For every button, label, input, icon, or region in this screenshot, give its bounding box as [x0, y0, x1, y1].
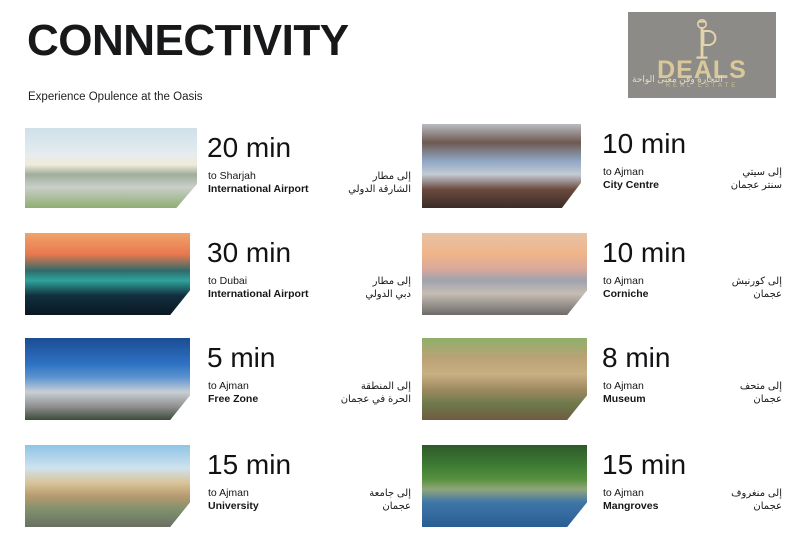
destination-ar: إلى المنطقة الحرة في عجمان: [341, 380, 411, 406]
destination-en: to Dubai International Airport: [208, 275, 309, 301]
item-info: 15 min to Ajman University إلى جامعة عجم…: [207, 445, 417, 541]
thumbnail-sharjah-international-airport: [25, 128, 197, 208]
destination-ar: إلى كورنيش عجمان: [732, 275, 782, 301]
connectivity-item: 15 min to Ajman University إلى جامعة عجم…: [25, 445, 417, 541]
connectivity-item: 15 min to Ajman Mangroves إلى منغروف عجم…: [422, 445, 804, 541]
duration-value: 8 min: [602, 342, 670, 374]
destination-en: to Sharjah International Airport: [208, 170, 309, 196]
connectivity-item: 5 min to Ajman Free Zone إلى المنطقة الح…: [25, 338, 417, 434]
connectivity-item: 20 min to Sharjah International Airport …: [25, 128, 417, 224]
duration-value: 10 min: [602, 237, 686, 269]
duration-value: 5 min: [207, 342, 275, 374]
item-info: 30 min to Dubai International Airport إل…: [207, 233, 417, 329]
thumbnail-ajman-mangroves: [422, 445, 587, 527]
thumbnail-ajman-university: [25, 445, 190, 527]
thumbnail-ajman-museum: [422, 338, 587, 420]
thumbnail-ajman-free-zone: [25, 338, 190, 420]
thumbnail-ajman-city-centre: [422, 124, 581, 208]
connectivity-item: 10 min to Ajman Corniche إلى كورنيش عجما…: [422, 233, 804, 329]
connectivity-item: 8 min to Ajman Museum إلى متحف عجمان: [422, 338, 804, 434]
item-info: 15 min to Ajman Mangroves إلى منغروف عجم…: [602, 445, 804, 541]
destination-ar: إلى متحف عجمان: [740, 380, 782, 406]
destination-en: to Ajman Corniche: [603, 275, 649, 301]
item-info: 8 min to Ajman Museum إلى متحف عجمان: [602, 338, 804, 434]
thumbnail-dubai-international-airport: [25, 233, 190, 315]
destination-ar: إلى مطار دبي الدولي: [365, 275, 411, 301]
destination-ar: إلى جامعة عجمان: [369, 487, 411, 513]
connectivity-item: 30 min to Dubai International Airport إل…: [25, 233, 417, 329]
destination-ar: إلى سيتي سنتر عجمان: [731, 166, 782, 192]
duration-value: 15 min: [207, 449, 291, 481]
connectivity-grid: 20 min to Sharjah International Airport …: [0, 0, 804, 558]
item-info: 10 min to Ajman Corniche إلى كورنيش عجما…: [602, 233, 804, 329]
destination-en: to Ajman Mangroves: [603, 487, 658, 513]
thumbnail-ajman-corniche: [422, 233, 587, 315]
duration-value: 20 min: [207, 132, 291, 164]
item-info: 20 min to Sharjah International Airport …: [207, 128, 417, 224]
destination-ar: إلى منغروف عجمان: [731, 487, 782, 513]
connectivity-item: 10 min to Ajman City Centre إلى سيتي سنت…: [422, 124, 804, 220]
destination-ar: إلى مطار الشارقة الدولي: [348, 170, 411, 196]
item-info: 5 min to Ajman Free Zone إلى المنطقة الح…: [207, 338, 417, 434]
destination-en: to Ajman Museum: [603, 380, 646, 406]
destination-en: to Ajman University: [208, 487, 259, 513]
item-info: 10 min to Ajman City Centre إلى سيتي سنت…: [602, 124, 804, 220]
connectivity-slide: CONNECTIVITY Experience Opulence at the …: [0, 0, 804, 558]
duration-value: 15 min: [602, 449, 686, 481]
destination-en: to Ajman Free Zone: [208, 380, 258, 406]
duration-value: 30 min: [207, 237, 291, 269]
destination-en: to Ajman City Centre: [603, 166, 659, 192]
duration-value: 10 min: [602, 128, 686, 160]
